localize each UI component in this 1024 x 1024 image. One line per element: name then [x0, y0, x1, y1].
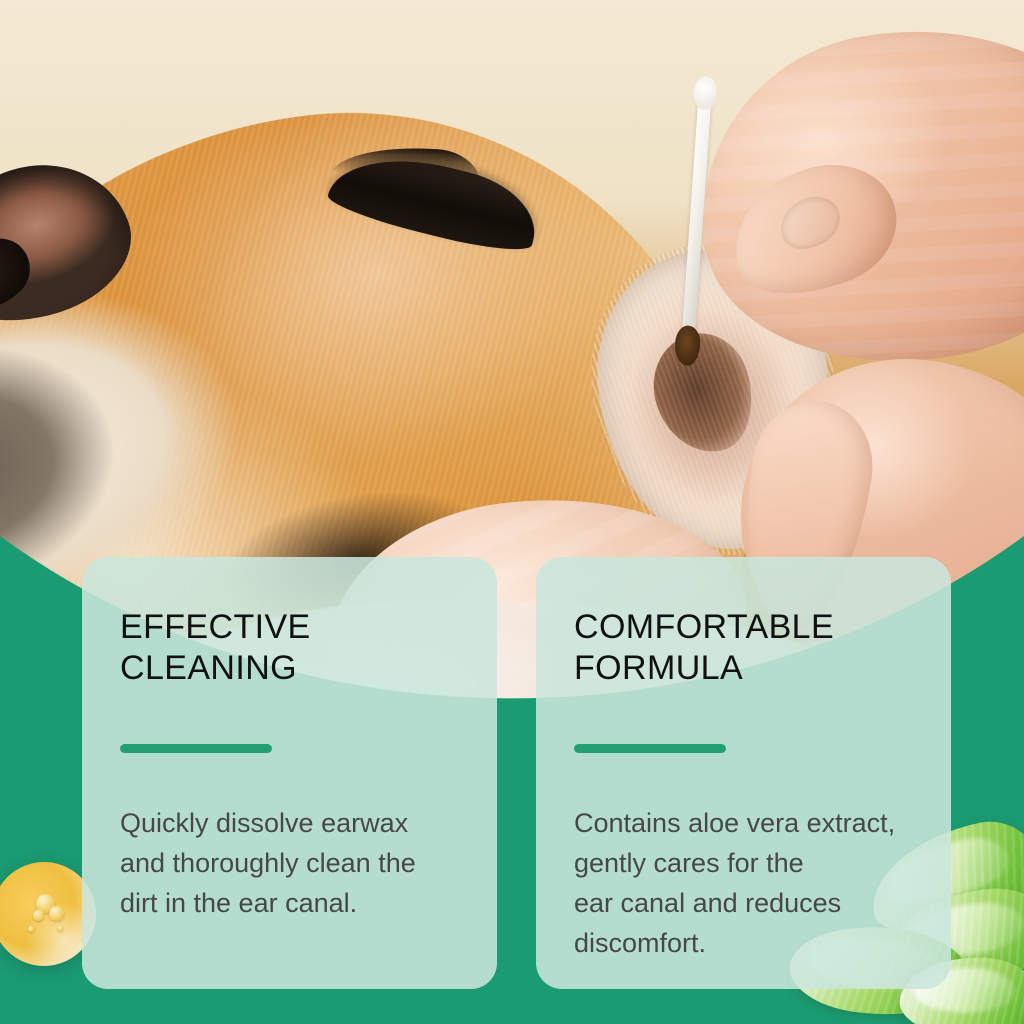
- feature-card-comfortable-formula: COMFORTABLE FORMULA Contains aloe vera e…: [536, 557, 951, 989]
- oil-bubble: [58, 926, 63, 931]
- feature-card-heading: EFFECTIVE CLEANING: [120, 607, 459, 690]
- feature-card-body: Quickly dissolve earwax and thoroughly c…: [120, 803, 459, 923]
- feature-card-divider: [574, 744, 726, 753]
- oil-bubble: [33, 910, 44, 921]
- product-feature-banner: EFFECTIVE CLEANING Quickly dissolve earw…: [0, 0, 1024, 1024]
- cotton-swab-tip: [693, 76, 718, 112]
- feature-card-divider: [120, 744, 272, 753]
- thumbnail: [771, 186, 849, 260]
- oil-bubble: [49, 906, 64, 921]
- oil-bubble: [28, 926, 34, 932]
- dog-nostril: [0, 225, 43, 323]
- feature-card-heading: COMFORTABLE FORMULA: [574, 607, 913, 690]
- feature-card-body: Contains aloe vera extract, gently cares…: [574, 803, 913, 963]
- feature-card-effective-cleaning: EFFECTIVE CLEANING Quickly dissolve earw…: [82, 557, 497, 989]
